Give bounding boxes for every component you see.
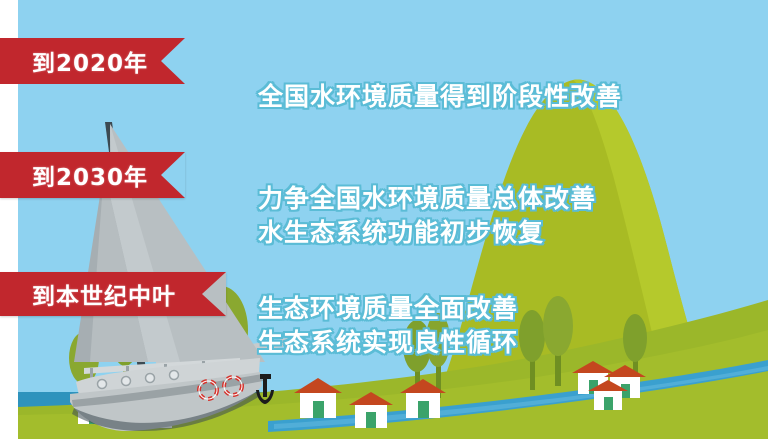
banner-notch-icon — [161, 152, 185, 198]
banner-goal-2030[interactable]: 到2030年 — [0, 152, 185, 198]
porthole — [170, 371, 179, 380]
banner-goal-2020[interactable]: 到2020年 — [0, 38, 185, 84]
banner-notch-icon — [161, 38, 185, 84]
house — [294, 378, 342, 418]
statement-2020: 全国水环境质量得到阶段性改善 — [258, 46, 622, 114]
statement-2030: 力争全国水环境质量总体改善 水生态系统功能初步恢复 — [258, 148, 596, 250]
banner-label-mid-century: 到本世纪中叶 — [32, 277, 176, 311]
banner-notch-icon — [202, 272, 226, 316]
porthole — [122, 377, 131, 386]
statement-mid-century-text: 生态环境质量全面改善 生态系统实现良性循环 — [258, 294, 518, 357]
statement-mid-century: 生态环境质量全面改善 生态系统实现良性循环 — [258, 258, 518, 360]
banner-label-2030: 到2030年 — [32, 158, 148, 192]
infographic-poster: 到2020年 到2030年 到本世纪中叶 全国水环境质量得到阶段性改善 力争全国… — [0, 0, 777, 439]
banner-label-2020: 到2020年 — [32, 44, 148, 78]
porthole — [146, 374, 155, 383]
right-margin — [768, 0, 777, 439]
banner-goal-mid-century[interactable]: 到本世纪中叶 — [0, 272, 226, 316]
statement-2030-text: 力争全国水环境质量总体改善 水生态系统功能初步恢复 — [258, 184, 596, 247]
porthole — [98, 380, 107, 389]
statement-2020-text: 全国水环境质量得到阶段性改善 — [258, 82, 622, 111]
